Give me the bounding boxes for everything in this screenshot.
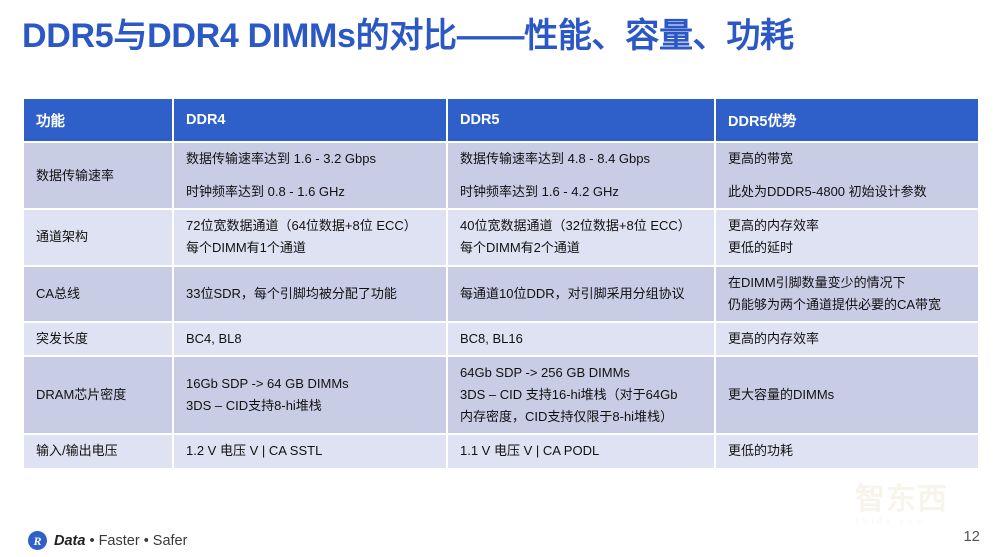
- logo-tagline: Data • Faster • Safer: [54, 533, 187, 549]
- cell-ddr5: BC8, BL16: [447, 322, 715, 356]
- cell-ddr5: 64Gb SDP -> 256 GB DIMMs3DS – CID 支持16-h…: [447, 356, 715, 434]
- cell-ddr5: 1.1 V 电压 V | CA PODL: [447, 434, 715, 468]
- column-header-ddr5: DDR5: [447, 98, 715, 142]
- cell-feature: CA总线: [23, 266, 173, 322]
- cell-ddr4: 72位宽数据通道（64位数据+8位 ECC）每个DIMM有1个通道: [173, 209, 447, 265]
- table-body: 数据传输速率数据传输速率达到 1.6 - 3.2 Gbps时钟频率达到 0.8 …: [23, 142, 979, 469]
- cell-ddr4: 16Gb SDP -> 64 GB DIMMs3DS – CID支持8-hi堆栈: [173, 356, 447, 434]
- column-header-feature: 功能: [23, 98, 173, 142]
- page-title: DDR5与DDR4 DIMMs的对比——性能、容量、功耗: [22, 10, 982, 62]
- cell-ddr4: 1.2 V 电压 V | CA SSTL: [173, 434, 447, 468]
- rambus-logo: R Data • Faster • Safer: [28, 531, 187, 550]
- cell-line: 每个DIMM有1个通道: [186, 238, 434, 258]
- cell-ddr5: 每通道10位DDR，对引脚采用分组协议: [447, 266, 715, 322]
- cell-line: 3DS – CID 支持16-hi堆栈（对于64Gb: [460, 385, 702, 405]
- cell-ddr5: 数据传输速率达到 4.8 - 8.4 Gbps时钟频率达到 1.6 - 4.2 …: [447, 142, 715, 209]
- cell-line: 每个DIMM有2个通道: [460, 238, 702, 258]
- cell-line: 更高的内存效率: [728, 216, 966, 236]
- cell-advantage: 更低的功耗: [715, 434, 979, 468]
- cell-line: 64Gb SDP -> 256 GB DIMMs: [460, 363, 702, 383]
- watermark-subtext: zhidx.com: [855, 517, 975, 526]
- cell-ddr4: 数据传输速率达到 1.6 - 3.2 Gbps时钟频率达到 0.8 - 1.6 …: [173, 142, 447, 209]
- page-number: 12: [963, 528, 980, 545]
- cell-ddr4: 33位SDR，每个引脚均被分配了功能: [173, 266, 447, 322]
- column-header-ddr4: DDR4: [173, 98, 447, 142]
- cell-line: 更大容量的DIMMs: [728, 385, 966, 405]
- rambus-r-icon: R: [28, 531, 47, 550]
- logo-tagline-strong: Data: [54, 533, 85, 549]
- cell-line: 1.2 V 电压 V | CA SSTL: [186, 441, 434, 461]
- cell-line: 更低的功耗: [728, 441, 966, 461]
- cell-ddr5: 40位宽数据通道（32位数据+8位 ECC）每个DIMM有2个通道: [447, 209, 715, 265]
- cell-line: 此处为DDDR5-4800 初始设计参数: [728, 182, 966, 202]
- cell-ddr4: BC4, BL8: [173, 322, 447, 356]
- cell-line: 时钟频率达到 1.6 - 4.2 GHz: [460, 182, 702, 202]
- cell-feature: 输入/输出电压: [23, 434, 173, 468]
- cell-line: 内存密度，CID支持仅限于8-hi堆栈）: [460, 407, 702, 427]
- cell-line: 1.1 V 电压 V | CA PODL: [460, 441, 702, 461]
- table-row: 数据传输速率数据传输速率达到 1.6 - 3.2 Gbps时钟频率达到 0.8 …: [23, 142, 979, 209]
- column-header-ddr5-advantage: DDR5优势: [715, 98, 979, 142]
- cell-line: 更低的延时: [728, 238, 966, 258]
- table-row: 通道架构72位宽数据通道（64位数据+8位 ECC）每个DIMM有1个通道40位…: [23, 209, 979, 265]
- watermark: 智东西 zhidx.com: [855, 485, 975, 535]
- table-header: 功能 DDR4 DDR5 DDR5优势: [23, 98, 979, 142]
- cell-feature: DRAM芯片密度: [23, 356, 173, 434]
- cell-line: 72位宽数据通道（64位数据+8位 ECC）: [186, 216, 434, 236]
- cell-line: 数据传输速率达到 1.6 - 3.2 Gbps: [186, 149, 434, 169]
- cell-feature: 突发长度: [23, 322, 173, 356]
- cell-line: BC8, BL16: [460, 329, 702, 349]
- table-row: 输入/输出电压1.2 V 电压 V | CA SSTL1.1 V 电压 V | …: [23, 434, 979, 468]
- logo-tagline-rest: • Faster • Safer: [85, 533, 187, 549]
- comparison-table: 功能 DDR4 DDR5 DDR5优势 数据传输速率数据传输速率达到 1.6 -…: [22, 97, 980, 470]
- table-row: 突发长度BC4, BL8BC8, BL16更高的内存效率: [23, 322, 979, 356]
- table-row: CA总线33位SDR，每个引脚均被分配了功能每通道10位DDR，对引脚采用分组协…: [23, 266, 979, 322]
- cell-advantage: 更高的内存效率更低的延时: [715, 209, 979, 265]
- cell-advantage: 在DIMM引脚数量变少的情况下仍能够为两个通道提供必要的CA带宽: [715, 266, 979, 322]
- cell-line: 更高的内存效率: [728, 329, 966, 349]
- cell-line: 数据传输速率达到 4.8 - 8.4 Gbps: [460, 149, 702, 169]
- cell-line: 更高的带宽: [728, 149, 966, 169]
- cell-line: 16Gb SDP -> 64 GB DIMMs: [186, 374, 434, 394]
- cell-line: 时钟频率达到 0.8 - 1.6 GHz: [186, 182, 434, 202]
- cell-feature: 通道架构: [23, 209, 173, 265]
- cell-advantage: 更高的带宽此处为DDDR5-4800 初始设计参数: [715, 142, 979, 209]
- table-header-row: 功能 DDR4 DDR5 DDR5优势: [23, 98, 979, 142]
- cell-feature: 数据传输速率: [23, 142, 173, 209]
- cell-line: 仍能够为两个通道提供必要的CA带宽: [728, 295, 966, 315]
- cell-line: BC4, BL8: [186, 329, 434, 349]
- cell-line: 33位SDR，每个引脚均被分配了功能: [186, 284, 434, 304]
- cell-line: 3DS – CID支持8-hi堆栈: [186, 396, 434, 416]
- cell-line: 在DIMM引脚数量变少的情况下: [728, 273, 966, 293]
- table-row: DRAM芯片密度16Gb SDP -> 64 GB DIMMs3DS – CID…: [23, 356, 979, 434]
- cell-advantage: 更大容量的DIMMs: [715, 356, 979, 434]
- cell-line: 每通道10位DDR，对引脚采用分组协议: [460, 284, 702, 304]
- watermark-text: 智东西: [855, 485, 975, 515]
- cell-line: 40位宽数据通道（32位数据+8位 ECC）: [460, 216, 702, 236]
- cell-advantage: 更高的内存效率: [715, 322, 979, 356]
